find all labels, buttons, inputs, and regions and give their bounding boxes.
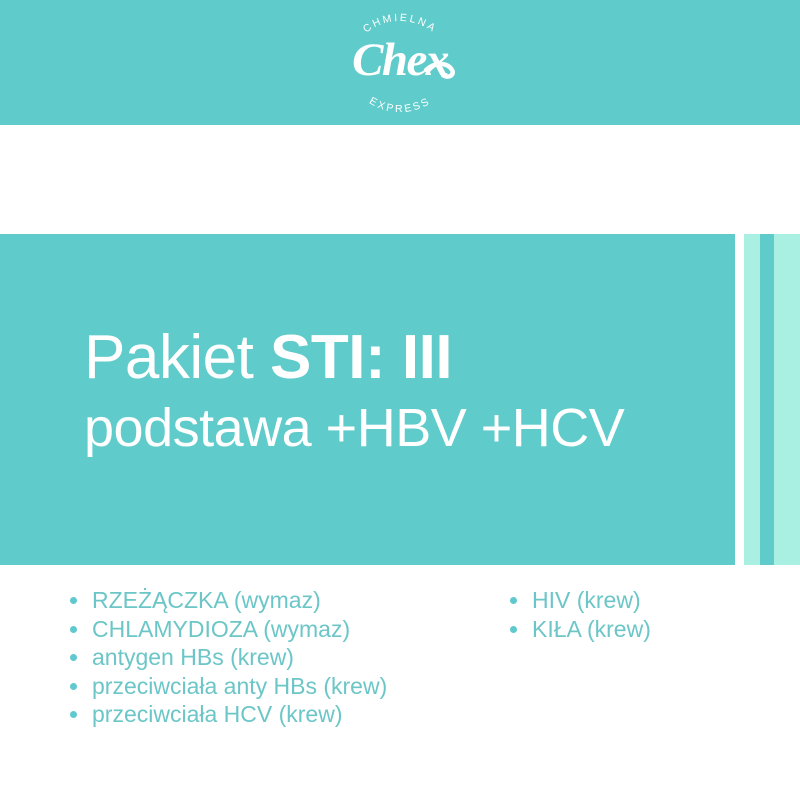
list-item: przeciwciała anty HBs (krew): [62, 672, 502, 701]
title-prefix: Pakiet: [84, 323, 270, 392]
page-title: Pakiet STI: III podstawa +HBV +HCV: [84, 327, 724, 455]
logo-svg: CHMIELNA Chex EXPRESS: [330, 13, 470, 113]
list-item: HIV (krew): [502, 586, 782, 615]
bullet-icon: [70, 654, 77, 661]
test-list-left-column: RZEŻĄCZKA (wymaz) CHLAMYDIOZA (wymaz) an…: [62, 586, 502, 729]
bullet-icon: [70, 683, 77, 690]
list-item-label: KIŁA (krew): [532, 616, 651, 642]
logo-wordmark: Chex: [352, 34, 449, 86]
title-line-subtitle: podstawa +HBV +HCV: [84, 401, 724, 455]
list-item: antygen HBs (krew): [62, 643, 502, 672]
list-item-label: antygen HBs (krew): [92, 644, 294, 670]
logo-bottom-arc-text: EXPRESS: [367, 95, 433, 115]
title-line-primary: Pakiet STI: III: [84, 327, 724, 389]
list-item-label: przeciwciała anty HBs (krew): [92, 673, 387, 699]
stripe-light-outer: [774, 234, 800, 565]
list-item: CHLAMYDIOZA (wymaz): [62, 615, 502, 644]
stripe-dark: [760, 234, 774, 565]
list-item: przeciwciała HCV (krew): [62, 700, 502, 729]
bullet-icon: [510, 597, 517, 604]
bullet-icon: [510, 626, 517, 633]
promo-poster: CHMIELNA Chex EXPRESS Pakiet STI: III po…: [0, 0, 800, 800]
chex-express-logo: CHMIELNA Chex EXPRESS: [330, 13, 470, 113]
bullet-icon: [70, 711, 77, 718]
list-item-label: RZEŻĄCZKA (wymaz): [92, 587, 321, 613]
list-item: KIŁA (krew): [502, 615, 782, 644]
test-list: RZEŻĄCZKA (wymaz) CHLAMYDIOZA (wymaz) an…: [0, 586, 800, 729]
list-item: RZEŻĄCZKA (wymaz): [62, 586, 502, 615]
logo-top-arc-text: CHMIELNA: [361, 12, 439, 36]
list-item-label: przeciwciała HCV (krew): [92, 701, 342, 727]
test-list-right-column: HIV (krew) KIŁA (krew): [502, 586, 782, 643]
white-separator: [0, 125, 800, 234]
title-emphasis: STI: III: [270, 323, 452, 392]
decorative-stripes: [735, 234, 800, 565]
bullet-icon: [70, 597, 77, 604]
stripe-light-inner: [744, 234, 760, 565]
brand-band: CHMIELNA Chex EXPRESS: [0, 0, 800, 125]
list-item-label: HIV (krew): [532, 587, 641, 613]
bullet-icon: [70, 626, 77, 633]
list-item-label: CHLAMYDIOZA (wymaz): [92, 616, 350, 642]
